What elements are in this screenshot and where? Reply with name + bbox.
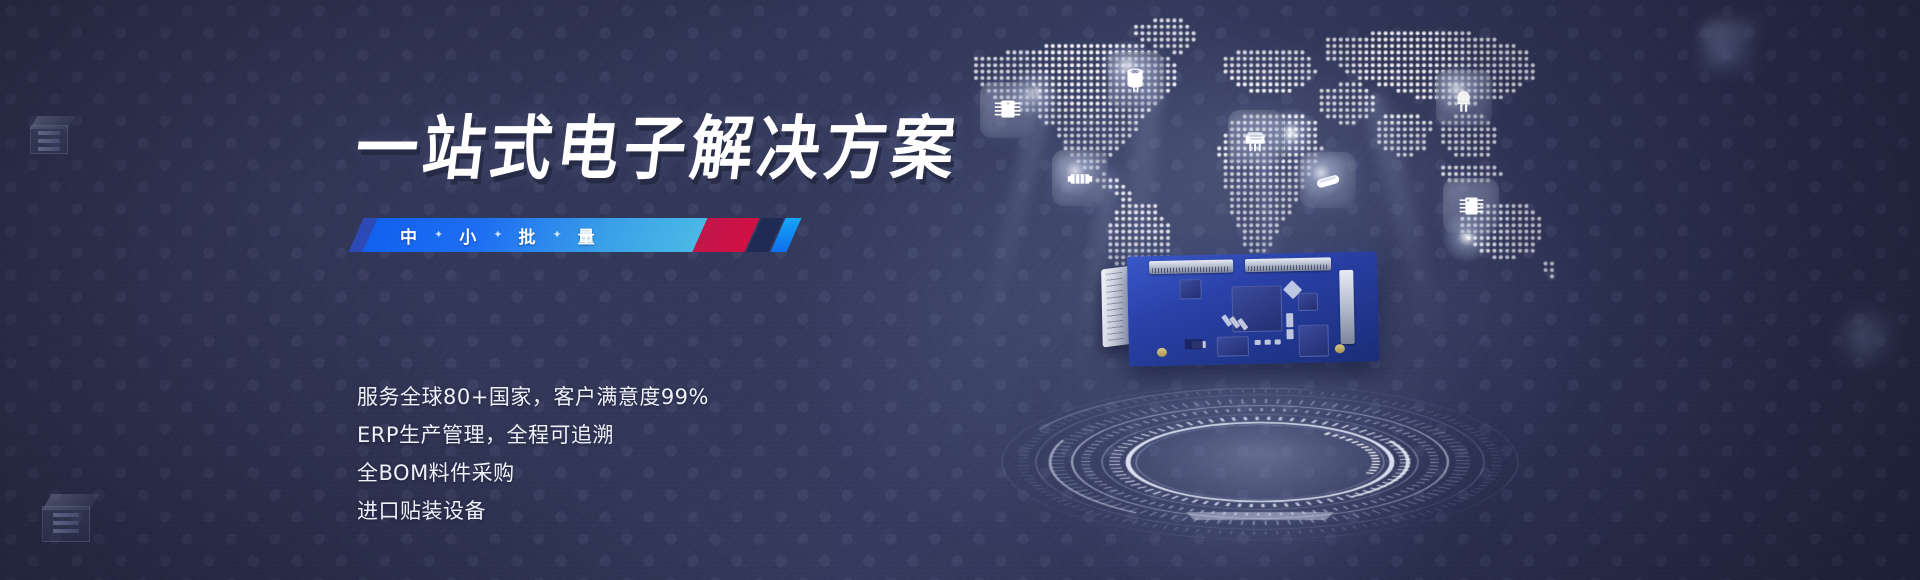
feature-list-item: 全BOM料件采购	[357, 454, 709, 492]
headline-block: 一站式电子解决方案	[356, 118, 959, 180]
hero-banner: +	[0, 0, 1920, 580]
feature-list: 服务全球80+国家，客户满意度99%ERP生产管理，全程可追溯全BOM料件采购进…	[357, 378, 709, 530]
background-vignette	[0, 0, 1920, 580]
feature-list-item: ERP生产管理，全程可追溯	[357, 416, 709, 454]
ribbon-word: 中	[400, 223, 418, 248]
ribbon-separator-icon: ✦	[552, 228, 561, 241]
ribbon-word: 批	[518, 223, 536, 248]
ribbon-separator-icon: ✦	[434, 228, 443, 241]
ribbon-badge: 中✦小✦批✦量	[356, 218, 786, 252]
feature-list-item: 进口贴装设备	[357, 492, 709, 530]
page-title: 一站式电子解决方案	[352, 114, 964, 183]
ribbon-word: 量	[578, 223, 596, 248]
ribbon-separator-icon: ✦	[493, 228, 502, 241]
ribbon-word: 小	[459, 223, 477, 248]
feature-list-item: 服务全球80+国家，客户满意度99%	[357, 378, 709, 416]
ribbon-label-group: 中✦小✦批✦量	[400, 218, 596, 252]
